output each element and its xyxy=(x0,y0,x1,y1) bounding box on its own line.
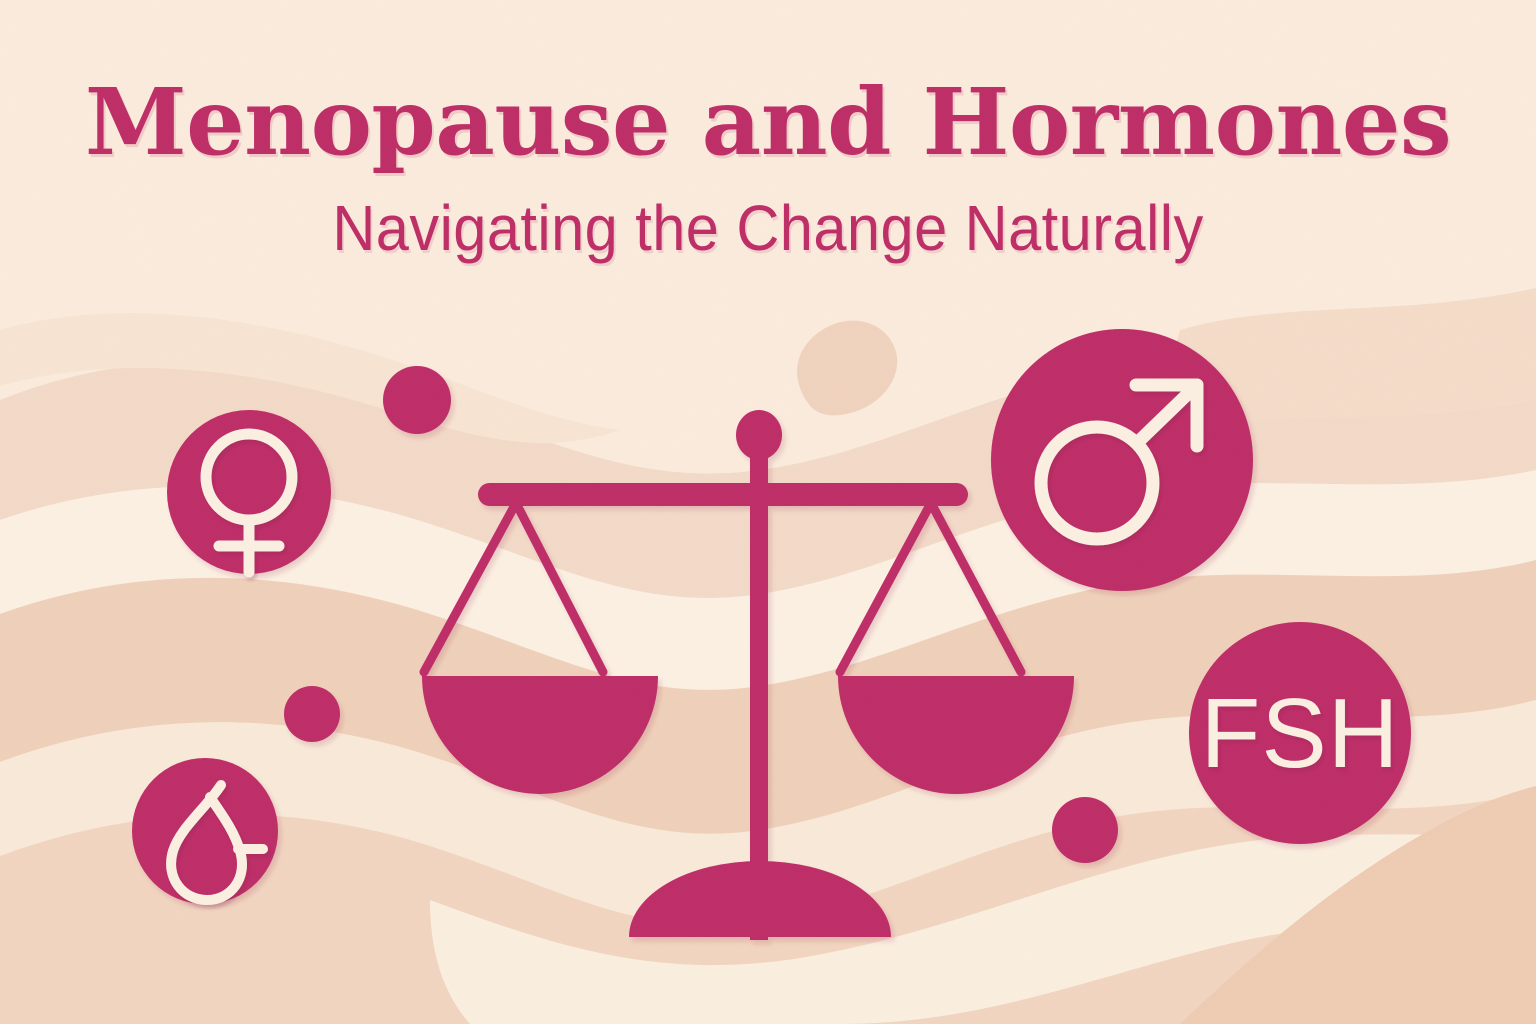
scale-left-strings xyxy=(424,503,603,672)
poster-canvas: FSH Menopause and Hormones Navigating th… xyxy=(0,0,1536,1024)
dot-upper-left xyxy=(383,366,451,434)
dot-mid-left xyxy=(284,686,340,742)
drop-badge-disc xyxy=(132,758,278,904)
male-badge-disc xyxy=(991,329,1253,591)
male-symbol-badge xyxy=(991,329,1253,591)
scale-post xyxy=(750,440,768,940)
dot-lower-right xyxy=(1052,797,1118,863)
scale-beam xyxy=(478,483,968,506)
scale-pan-left xyxy=(422,676,658,794)
female-symbol-badge xyxy=(167,410,331,574)
fsh-badge-label: FSH xyxy=(1201,678,1400,788)
fsh-badge: FSH xyxy=(1189,622,1411,844)
scale-pan-right xyxy=(838,676,1074,794)
scale-finial-icon xyxy=(736,410,782,460)
estrogen-drop-badge xyxy=(132,758,278,904)
illustration-layer: FSH xyxy=(0,0,1536,1024)
balance-scale-illustration xyxy=(422,410,1074,940)
scale-right-strings xyxy=(840,503,1021,672)
